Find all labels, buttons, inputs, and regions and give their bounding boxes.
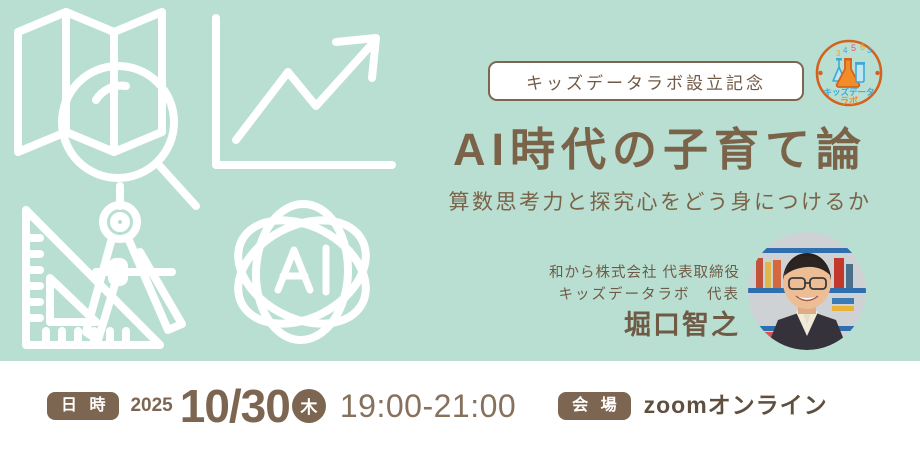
speaker-portrait: [748, 232, 866, 350]
event-date: 10/30: [180, 383, 290, 429]
page-subtitle-text: 算数思考力と探究心をどう身につけるか: [449, 186, 872, 216]
event-banner: 3 4 5 6 3 キッズデータ ラボ キッズデータラボ設立記念 AI時代の子育…: [0, 0, 920, 450]
page-title: AI時代の子育て論: [420, 121, 900, 177]
kids-data-lab-logo: 3 4 5 6 3 キッズデータ ラボ: [812, 36, 886, 110]
speaker-role-line1: 和から株式会社 代表取締役: [470, 262, 740, 284]
page-title-text: AI時代の子育て論: [453, 127, 867, 172]
ai-atom-icon: [220, 199, 383, 344]
event-year: 2025: [130, 396, 172, 415]
speaker-role-line2: キッズデータラボ 代表: [470, 284, 740, 306]
speaker-info: 和から株式会社 代表取締役 キッズデータラボ 代表 堀口智之: [470, 262, 740, 341]
svg-text:3: 3: [867, 46, 872, 55]
date-badge-label: 日 時: [47, 392, 119, 420]
svg-text:3: 3: [836, 49, 841, 58]
commemoration-pill: キッズデータラボ設立記念: [488, 61, 804, 101]
svg-text:6: 6: [860, 42, 865, 52]
event-venue: zoomオンライン: [644, 394, 828, 417]
event-time: 19:00-21:00: [340, 390, 516, 422]
decorative-artwork: [0, 0, 420, 361]
svg-text:5: 5: [851, 43, 856, 53]
speaker-name: 堀口智之: [470, 311, 740, 341]
event-weekday-badge: 木: [292, 389, 326, 423]
svg-text:ラボ: ラボ: [840, 95, 858, 106]
triangle-ruler-icon: [26, 210, 160, 345]
commemoration-pill-label: キッズデータラボ設立記念: [526, 69, 766, 94]
venue-badge-label: 会 場: [558, 392, 630, 420]
page-subtitle: 算数思考力と探究心をどう身につけるか: [420, 186, 900, 216]
svg-text:4: 4: [843, 46, 848, 55]
line-chart-arrow-icon: [216, 18, 392, 165]
event-details-bar: 日 時 2025 10/30 木 19:00-21:00 会 場 zoomオンラ…: [0, 361, 920, 450]
map-icon: [18, 12, 162, 152]
